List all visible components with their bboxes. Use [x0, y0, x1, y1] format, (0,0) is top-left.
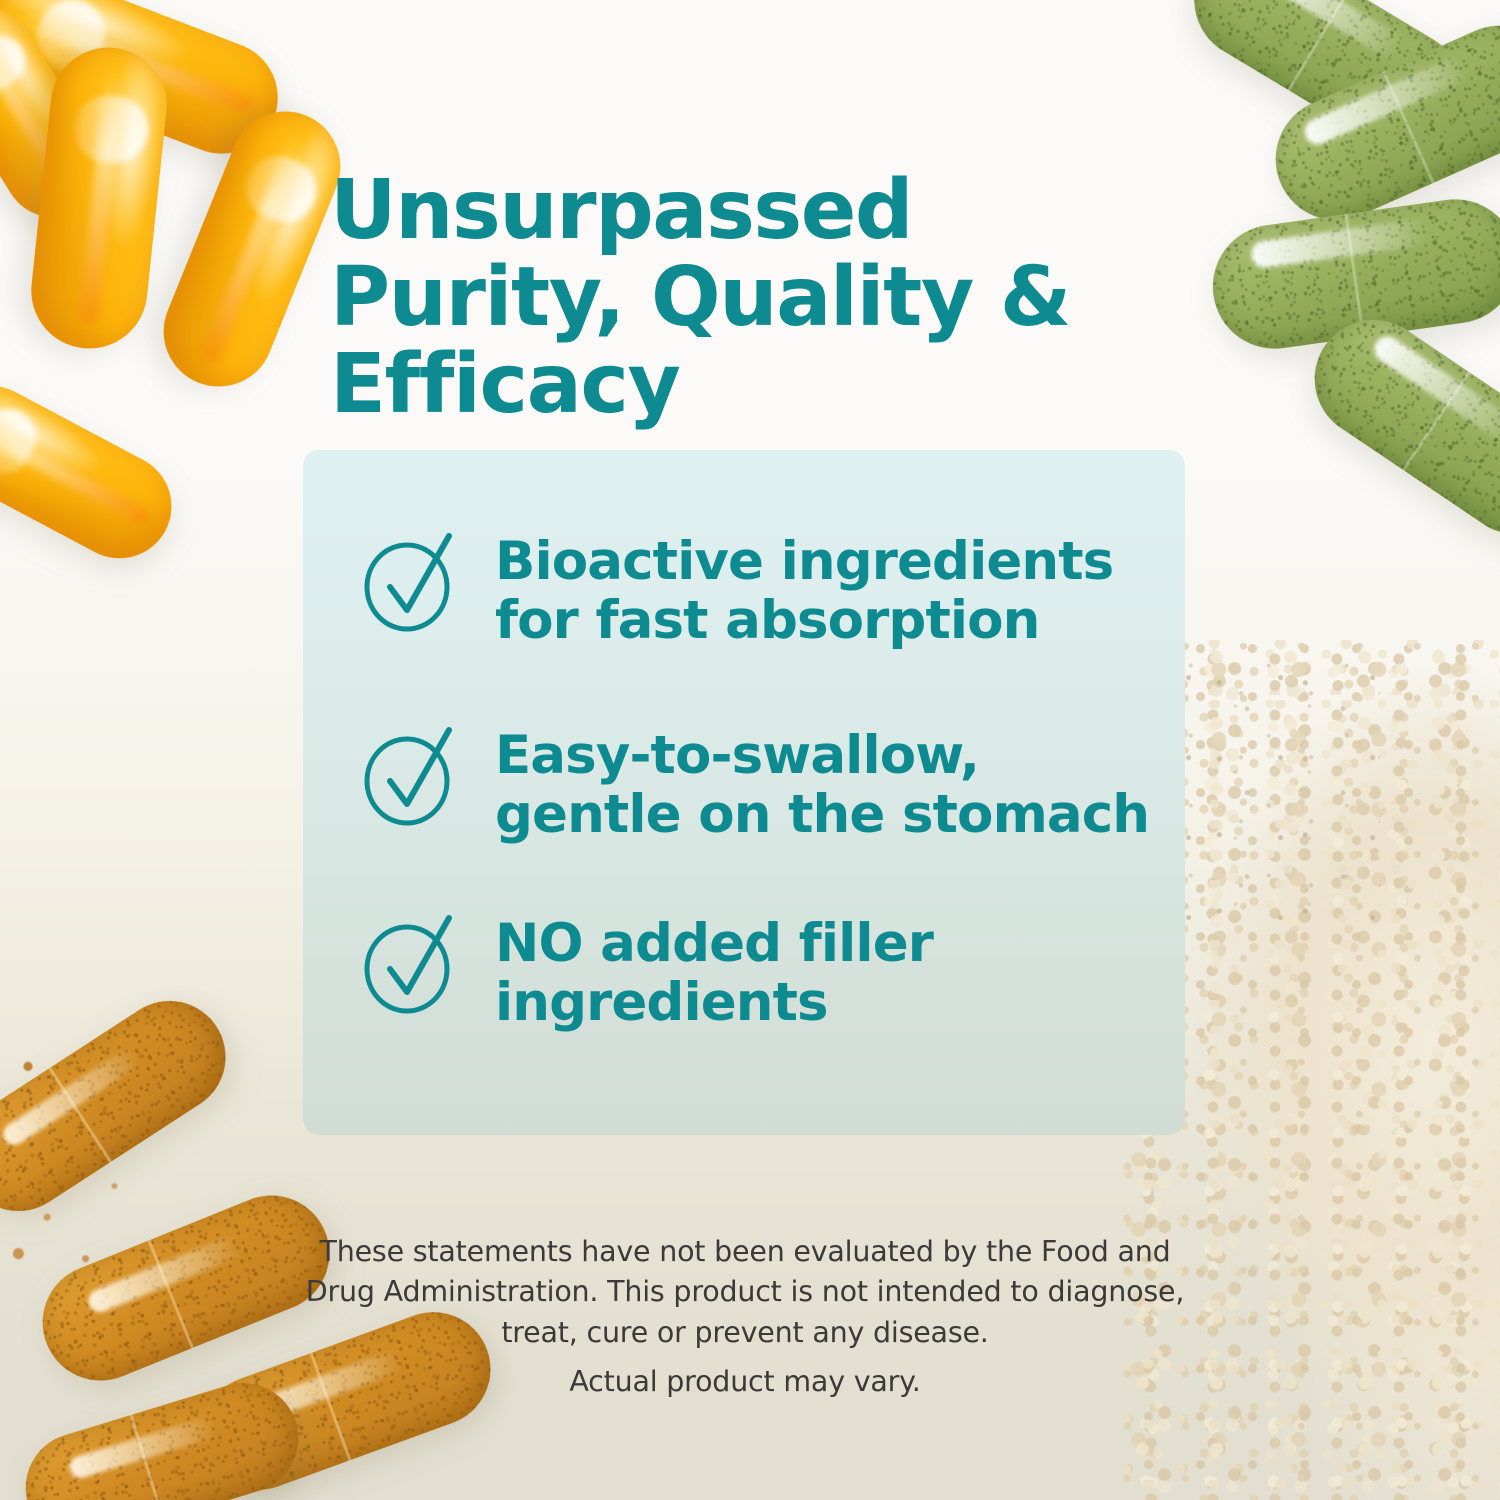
page-title: Unsurpassed Purity, Quality & Efficacy	[330, 168, 1190, 429]
benefits-list: Bioactive ingredients for fast absorptio…	[303, 450, 1185, 1135]
list-item-label: Bioactive ingredients for fast absorptio…	[495, 528, 1113, 651]
circle-check-icon	[359, 532, 459, 632]
list-item: NO added filler ingredients	[359, 910, 1159, 1033]
list-item-label: Easy-to-swallow, gentle on the stomach	[495, 722, 1149, 845]
list-item-label: NO added filler ingredients	[495, 910, 933, 1033]
list-item: Easy-to-swallow, gentle on the stomach	[359, 722, 1159, 845]
list-item: Bioactive ingredients for fast absorptio…	[359, 528, 1159, 651]
benefits-card: Bioactive ingredients for fast absorptio…	[303, 450, 1185, 1135]
circle-check-icon	[359, 726, 459, 826]
circle-check-icon	[359, 914, 459, 1014]
product-variance-note: Actual product may vary.	[300, 1362, 1190, 1402]
fda-disclaimer: These statements have not been evaluated…	[300, 1232, 1190, 1353]
product-feature-image: Unsurpassed Purity, Quality & Efficacy B…	[0, 0, 1500, 1500]
content-layer: Unsurpassed Purity, Quality & Efficacy B…	[0, 0, 1500, 1500]
